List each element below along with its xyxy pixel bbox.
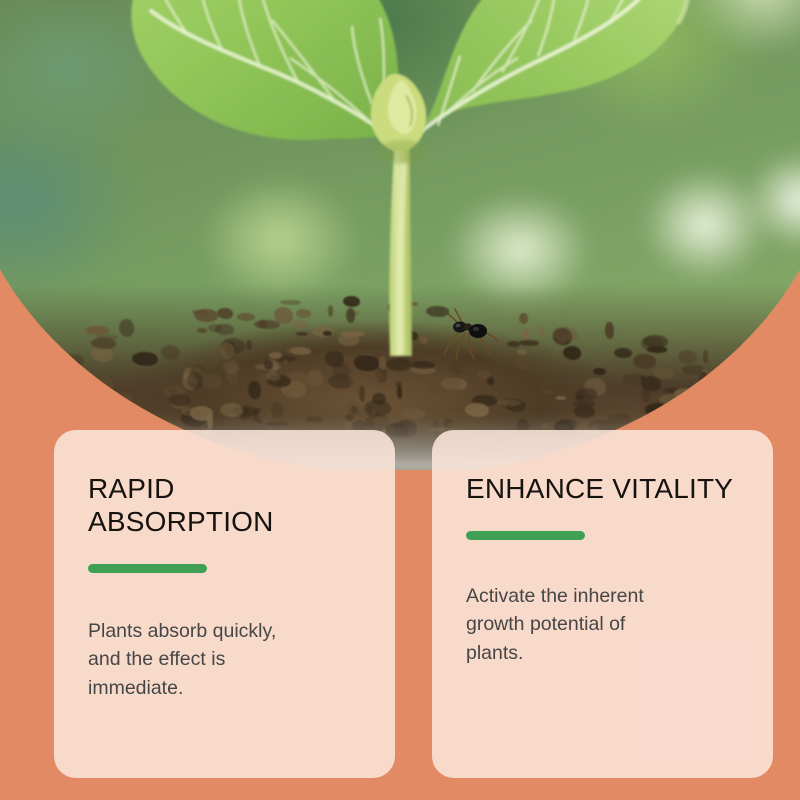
card-title: RAPID ABSORPTION <box>88 472 361 538</box>
card-title: ENHANCE VITALITY <box>466 472 739 505</box>
card-body-text: Plants absorb quickly, and the effect is… <box>88 617 361 702</box>
feature-card-rapid-absorption[interactable]: RAPID ABSORPTION Plants absorb quickly, … <box>54 430 395 778</box>
feature-card-enhance-vitality[interactable]: ENHANCE VITALITY Activate the inherent g… <box>432 430 773 778</box>
accent-bar-icon <box>88 564 207 573</box>
feature-cards: RAPID ABSORPTION Plants absorb quickly, … <box>0 0 800 800</box>
accent-bar-icon <box>466 531 585 540</box>
poster-canvas: RAPID ABSORPTION Plants absorb quickly, … <box>0 0 800 800</box>
card-body-text: Activate the inherent growth potential o… <box>466 582 739 667</box>
